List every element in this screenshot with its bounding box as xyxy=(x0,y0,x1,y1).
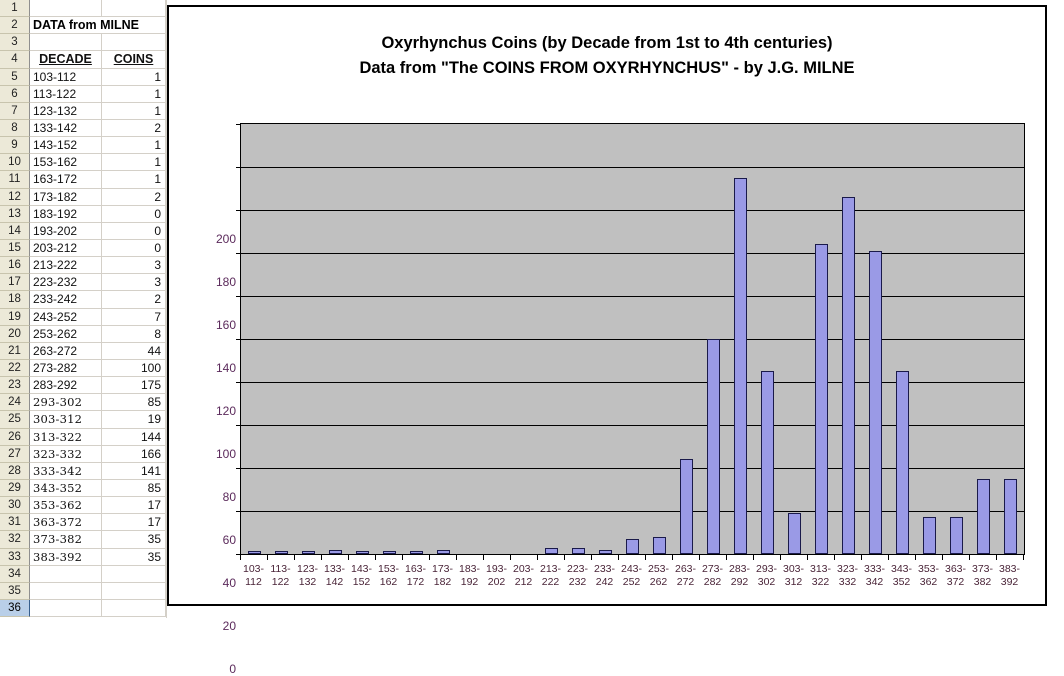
cell-decade[interactable]: 263-272 xyxy=(30,343,102,360)
row-header[interactable]: 28 xyxy=(0,463,30,480)
cell-decade[interactable]: 113-122 xyxy=(30,86,102,103)
row-header[interactable]: 21 xyxy=(0,343,30,360)
bar[interactable] xyxy=(248,551,261,554)
x-tick-mark xyxy=(456,555,457,560)
plot-wrapper: Number of Coins 020406080100120140160180… xyxy=(240,123,1025,555)
bar[interactable] xyxy=(896,371,909,554)
x-tick-mark xyxy=(591,555,592,560)
x-tick-mark xyxy=(915,555,916,560)
x-tick-mark xyxy=(861,555,862,560)
cell-coins[interactable]: 7 xyxy=(102,309,166,326)
sheet-row[interactable]: 29343-35285 xyxy=(0,480,166,497)
cell-decade[interactable]: 303-312 xyxy=(30,411,102,428)
row-header[interactable]: 31 xyxy=(0,514,30,531)
row-header[interactable]: 19 xyxy=(0,309,30,326)
bar[interactable] xyxy=(977,479,990,554)
cell-decade[interactable]: 213-222 xyxy=(30,257,102,274)
row-header[interactable]: 16 xyxy=(0,257,30,274)
cell-decade[interactable] xyxy=(30,34,102,51)
x-tick-mark xyxy=(645,555,646,560)
sheet-row[interactable]: 12173-1822 xyxy=(0,189,166,206)
cell-coins[interactable]: 35 xyxy=(102,531,166,548)
row-header[interactable]: 20 xyxy=(0,326,30,343)
y-gridline xyxy=(241,210,1024,211)
cell-coins[interactable]: 8 xyxy=(102,326,166,343)
sheet-row[interactable]: 23283-292175 xyxy=(0,377,166,394)
cell-decade[interactable]: 223-232 xyxy=(30,274,102,291)
cell-decade[interactable]: 273-282 xyxy=(30,360,102,377)
row-header[interactable]: 35 xyxy=(0,583,30,600)
row-header[interactable]: 14 xyxy=(0,223,30,240)
row-header[interactable]: 36 xyxy=(0,600,30,617)
row-header[interactable]: 5 xyxy=(0,69,30,86)
sheet-row[interactable]: 5103-1121 xyxy=(0,69,166,86)
row-header[interactable]: 9 xyxy=(0,137,30,154)
bar[interactable] xyxy=(842,197,855,554)
cell-decade[interactable]: 243-252 xyxy=(30,309,102,326)
y-axis-tick-label: 80 xyxy=(176,492,236,502)
bar[interactable] xyxy=(923,517,936,554)
y-axis-tick-label: 180 xyxy=(176,277,236,287)
cell-coins[interactable]: 0 xyxy=(102,240,166,257)
cell-decade[interactable]: 233-242 xyxy=(30,291,102,308)
x-tick-mark xyxy=(375,555,376,560)
cell-decade[interactable]: 153-162 xyxy=(30,154,102,171)
cell-coins[interactable] xyxy=(102,583,166,600)
bar[interactable] xyxy=(1004,479,1017,554)
sheet-row[interactable]: 3 xyxy=(0,34,166,51)
row-header[interactable]: 26 xyxy=(0,429,30,446)
cell-coins[interactable]: 19 xyxy=(102,411,166,428)
sheet-row[interactable]: 31363-37217 xyxy=(0,514,166,531)
row-header[interactable]: 7 xyxy=(0,103,30,120)
row-header[interactable]: 6 xyxy=(0,86,30,103)
sheet-row[interactable]: 22273-282100 xyxy=(0,360,166,377)
sheet-row[interactable]: 6113-1221 xyxy=(0,86,166,103)
sheet-row[interactable]: 35 xyxy=(0,583,166,600)
cell-coins[interactable]: 141 xyxy=(102,463,166,480)
bar[interactable] xyxy=(788,513,801,554)
cell-coins[interactable] xyxy=(102,566,166,583)
spreadsheet-pane[interactable]: 12DATA from MILNE34DECADECOINS5103-11216… xyxy=(0,0,166,618)
sheet-row[interactable]: 26313-322144 xyxy=(0,429,166,446)
row-header[interactable]: 12 xyxy=(0,189,30,206)
y-tick-mark xyxy=(236,124,241,125)
sheet-row[interactable]: 1 xyxy=(0,0,166,17)
x-tick-mark xyxy=(672,555,673,560)
cell-coins[interactable]: 1 xyxy=(102,171,166,188)
cell-decade[interactable]: 193-202 xyxy=(30,223,102,240)
sheet-row[interactable]: 15203-2120 xyxy=(0,240,166,257)
y-tick-mark xyxy=(236,210,241,211)
row-header[interactable]: 3 xyxy=(0,34,30,51)
cell-decade[interactable]: 123-132 xyxy=(30,103,102,120)
cell-decade[interactable]: 313-322 xyxy=(30,429,102,446)
cell-coins[interactable] xyxy=(102,600,166,617)
x-tick-mark xyxy=(348,555,349,560)
sheet-row[interactable]: 2DATA from MILNE xyxy=(0,17,166,34)
bar[interactable] xyxy=(275,551,288,554)
sheet-row[interactable]: 24293-30285 xyxy=(0,394,166,411)
row-header[interactable]: 4 xyxy=(0,51,30,68)
x-axis-tick-label: 383-392 xyxy=(992,563,1027,589)
bar[interactable] xyxy=(356,551,369,554)
cell-decade[interactable]: 173-182 xyxy=(30,189,102,206)
excel-chart-screen: 12DATA from MILNE34DECADECOINS5103-11216… xyxy=(0,0,1064,618)
row-header[interactable]: 24 xyxy=(0,394,30,411)
row-header[interactable]: 10 xyxy=(0,154,30,171)
x-tick-mark xyxy=(807,555,808,560)
x-tick-mark xyxy=(969,555,970,560)
row-header[interactable]: 27 xyxy=(0,446,30,463)
x-tick-mark xyxy=(240,555,241,560)
x-tick-mark xyxy=(321,555,322,560)
bar[interactable] xyxy=(707,339,720,554)
row-header[interactable]: 13 xyxy=(0,206,30,223)
cell-decade[interactable]: 323-332 xyxy=(30,446,102,463)
bar[interactable] xyxy=(761,371,774,554)
sheet-row[interactable]: 36 xyxy=(0,600,166,617)
y-axis-tick-label: 120 xyxy=(176,406,236,416)
cell-coins[interactable]: 1 xyxy=(102,154,166,171)
bar[interactable] xyxy=(410,551,423,554)
x-tick-mark xyxy=(267,555,268,560)
column-header-decade[interactable]: DECADE xyxy=(30,51,102,68)
y-axis-tick-label: 40 xyxy=(176,578,236,588)
cell-decade[interactable]: 133-142 xyxy=(30,120,102,137)
y-tick-mark xyxy=(236,167,241,168)
cell-coins[interactable] xyxy=(102,0,166,17)
y-tick-mark xyxy=(236,253,241,254)
y-gridline xyxy=(241,253,1024,254)
cell-decade[interactable]: 253-262 xyxy=(30,326,102,343)
row-header[interactable]: 2 xyxy=(0,17,30,34)
cell-decade[interactable]: 103-112 xyxy=(30,69,102,86)
row-header[interactable]: 17 xyxy=(0,274,30,291)
row-header[interactable]: 32 xyxy=(0,531,30,548)
bar[interactable] xyxy=(815,244,828,554)
bar[interactable] xyxy=(869,251,882,554)
bar[interactable] xyxy=(599,550,612,554)
cell-decade[interactable]: 183-192 xyxy=(30,206,102,223)
cell-coins[interactable]: 3 xyxy=(102,257,166,274)
cell-coins[interactable]: 85 xyxy=(102,480,166,497)
sheet-row[interactable]: 9143-1521 xyxy=(0,137,166,154)
bar[interactable] xyxy=(302,551,315,554)
y-tick-mark xyxy=(236,382,241,383)
y-tick-mark xyxy=(236,339,241,340)
sheet-row[interactable]: 11163-1721 xyxy=(0,171,166,188)
y-axis-tick-label: 60 xyxy=(176,535,236,545)
bar[interactable] xyxy=(383,551,396,554)
sheet-row[interactable]: 25303-31219 xyxy=(0,411,166,428)
row-header[interactable]: 1 xyxy=(0,0,30,17)
cell-coins[interactable]: 100 xyxy=(102,360,166,377)
cell-coins[interactable]: 1 xyxy=(102,86,166,103)
cell-coins[interactable]: 44 xyxy=(102,343,166,360)
y-gridline xyxy=(241,339,1024,340)
y-gridline xyxy=(241,296,1024,297)
sheet-row[interactable]: 28333-342141 xyxy=(0,463,166,480)
y-axis-tick-label: 20 xyxy=(176,621,236,631)
cell-coins[interactable]: 175 xyxy=(102,377,166,394)
x-tick-mark xyxy=(780,555,781,560)
cell-decade[interactable]: 203-212 xyxy=(30,240,102,257)
sheet-row[interactable]: 10153-1621 xyxy=(0,154,166,171)
sheet-row[interactable]: 21263-27244 xyxy=(0,343,166,360)
y-tick-mark xyxy=(236,511,241,512)
cell-decade[interactable] xyxy=(30,566,102,583)
chart-title: Oxyrhynchus Coins (by Decade from 1st to… xyxy=(169,31,1045,81)
row-header[interactable]: 25 xyxy=(0,411,30,428)
cell-coins[interactable]: 3 xyxy=(102,274,166,291)
cell-decade[interactable]: 293-302 xyxy=(30,394,102,411)
cell-decade[interactable]: 333-342 xyxy=(30,463,102,480)
y-gridline xyxy=(241,167,1024,168)
row-header[interactable]: 23 xyxy=(0,377,30,394)
bar[interactable] xyxy=(329,550,342,554)
cell-coins[interactable]: 2 xyxy=(102,291,166,308)
sheet-row[interactable]: 16213-2223 xyxy=(0,257,166,274)
plot-area xyxy=(240,123,1025,555)
y-axis-tick-label: 200 xyxy=(176,234,236,244)
cell-decade[interactable]: 163-172 xyxy=(30,171,102,188)
y-tick-mark xyxy=(236,468,241,469)
x-tick-mark xyxy=(483,555,484,560)
x-tick-mark xyxy=(888,555,889,560)
x-tick-mark xyxy=(753,555,754,560)
cell-coins[interactable]: 17 xyxy=(102,514,166,531)
y-tick-mark xyxy=(236,425,241,426)
x-tick-mark xyxy=(294,555,295,560)
cell-coins[interactable]: 2 xyxy=(102,189,166,206)
cell-coins[interactable]: 35 xyxy=(102,549,166,566)
row-header[interactable]: 15 xyxy=(0,240,30,257)
sheet-row[interactable]: 17223-2323 xyxy=(0,274,166,291)
cell-coins[interactable]: 2 xyxy=(102,120,166,137)
x-tick-mark xyxy=(402,555,403,560)
x-tick-mark xyxy=(1023,555,1024,560)
bar[interactable] xyxy=(437,550,450,554)
y-tick-mark xyxy=(236,296,241,297)
y-axis-tick-label: 140 xyxy=(176,363,236,373)
x-tick-mark xyxy=(942,555,943,560)
row-header[interactable]: 18 xyxy=(0,291,30,308)
x-tick-mark xyxy=(537,555,538,560)
cell-coins[interactable]: 0 xyxy=(102,223,166,240)
cell-coins[interactable]: 17 xyxy=(102,497,166,514)
sheet-row[interactable]: 27323-332166 xyxy=(0,446,166,463)
cell-decade[interactable]: 283-292 xyxy=(30,377,102,394)
sheet-row[interactable]: 7123-1321 xyxy=(0,103,166,120)
x-tick-mark xyxy=(510,555,511,560)
cell-decade[interactable]: 373-382 xyxy=(30,531,102,548)
cell-coins[interactable]: 0 xyxy=(102,206,166,223)
bar[interactable] xyxy=(734,178,747,554)
bar[interactable] xyxy=(680,459,693,554)
column-header-coins[interactable]: COINS xyxy=(102,51,166,68)
row-header[interactable]: 8 xyxy=(0,120,30,137)
bar[interactable] xyxy=(626,539,639,554)
chart-title-line2: Data from "The COINS FROM OXYRHYNCHUS" -… xyxy=(169,56,1045,81)
x-tick-mark xyxy=(726,555,727,560)
row-header[interactable]: 22 xyxy=(0,360,30,377)
row-header[interactable]: 11 xyxy=(0,171,30,188)
cell-decade[interactable]: 383-392 xyxy=(30,549,102,566)
cell-coins[interactable]: 1 xyxy=(102,137,166,154)
x-tick-mark xyxy=(699,555,700,560)
bar[interactable] xyxy=(545,548,558,554)
sheet-row[interactable]: 4DECADECOINS xyxy=(0,51,166,68)
cell-decade[interactable]: 343-352 xyxy=(30,480,102,497)
sheet-row[interactable]: 33383-39235 xyxy=(0,549,166,566)
cell-coins[interactable]: 1 xyxy=(102,103,166,120)
chart-object[interactable]: Oxyrhynchus Coins (by Decade from 1st to… xyxy=(167,5,1047,606)
sheet-row[interactable]: 32373-38235 xyxy=(0,531,166,548)
bar[interactable] xyxy=(572,548,585,554)
cell-coins[interactable]: 1 xyxy=(102,69,166,86)
x-tick-mark xyxy=(996,555,997,560)
bar[interactable] xyxy=(653,537,666,554)
row-header[interactable]: 30 xyxy=(0,497,30,514)
sheet-row[interactable]: 18233-2422 xyxy=(0,291,166,308)
y-axis-tick-label: 0 xyxy=(176,664,236,674)
cell-data-from-milne[interactable]: DATA from MILNE xyxy=(30,17,166,34)
bar[interactable] xyxy=(950,517,963,554)
x-tick-mark xyxy=(618,555,619,560)
cell-decade[interactable] xyxy=(30,583,102,600)
y-axis-tick-label: 160 xyxy=(176,320,236,330)
sheet-row[interactable]: 14193-2020 xyxy=(0,223,166,240)
sheet-row[interactable]: 19243-2527 xyxy=(0,309,166,326)
sheet-row[interactable]: 8133-1422 xyxy=(0,120,166,137)
row-header[interactable]: 29 xyxy=(0,480,30,497)
cell-decade[interactable]: 363-372 xyxy=(30,514,102,531)
x-tick-mark xyxy=(834,555,835,560)
chart-title-line1: Oxyrhynchus Coins (by Decade from 1st to… xyxy=(381,34,832,52)
y-axis-tick-label: 100 xyxy=(176,449,236,459)
x-tick-mark xyxy=(429,555,430,560)
row-header[interactable]: 34 xyxy=(0,566,30,583)
sheet-row[interactable]: 13183-1920 xyxy=(0,206,166,223)
x-tick-mark xyxy=(564,555,565,560)
sheet-row[interactable]: 20253-2628 xyxy=(0,326,166,343)
sheet-row[interactable]: 34 xyxy=(0,566,166,583)
cell-coins[interactable]: 144 xyxy=(102,429,166,446)
cell-coins[interactable]: 166 xyxy=(102,446,166,463)
sheet-row[interactable]: 30353-36217 xyxy=(0,497,166,514)
row-header[interactable]: 33 xyxy=(0,549,30,566)
cell-decade[interactable]: 353-362 xyxy=(30,497,102,514)
cell-coins[interactable]: 85 xyxy=(102,394,166,411)
cell-decade[interactable] xyxy=(30,0,102,17)
cell-coins[interactable] xyxy=(102,34,166,51)
cell-decade[interactable]: 143-152 xyxy=(30,137,102,154)
cell-decade[interactable] xyxy=(30,600,102,617)
